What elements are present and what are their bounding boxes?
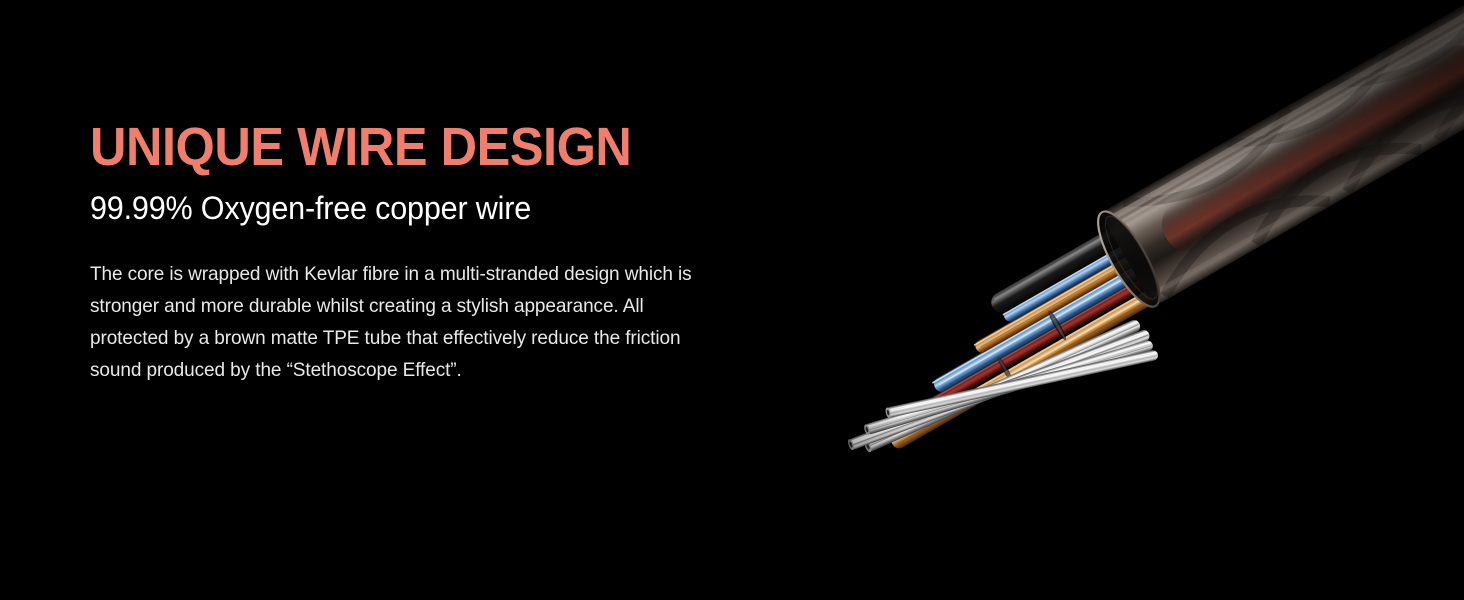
copy-block: UNIQUE WIRE DESIGN 99.99% Oxygen-free co… [90, 118, 750, 386]
blue-strands-upper [1002, 206, 1195, 323]
page-title: UNIQUE WIRE DESIGN [90, 118, 707, 176]
tube-weave-shading [1114, 0, 1464, 296]
tube-inner-strand-glow [1153, 36, 1464, 260]
subtitle: 99.99% Oxygen-free copper wire [90, 176, 720, 228]
left-blackout-fade [840, 0, 960, 600]
tpe-tube [1087, 0, 1464, 314]
copper-strands-upper [973, 219, 1196, 355]
copper-strands-lower [889, 274, 1183, 451]
inner-black-sleeve [988, 187, 1194, 317]
blue-strands [931, 236, 1192, 394]
body-paragraph: The core is wrapped with Kevlar fibre in… [90, 228, 724, 386]
conductor-bundle [819, 187, 1252, 515]
silver-strands [841, 275, 1164, 515]
binding-rings [988, 309, 1072, 382]
tube-cut-mouth [1087, 204, 1170, 315]
promo-banner: UNIQUE WIRE DESIGN 99.99% Oxygen-free co… [0, 0, 1464, 600]
dark-red-strands [917, 257, 1183, 417]
